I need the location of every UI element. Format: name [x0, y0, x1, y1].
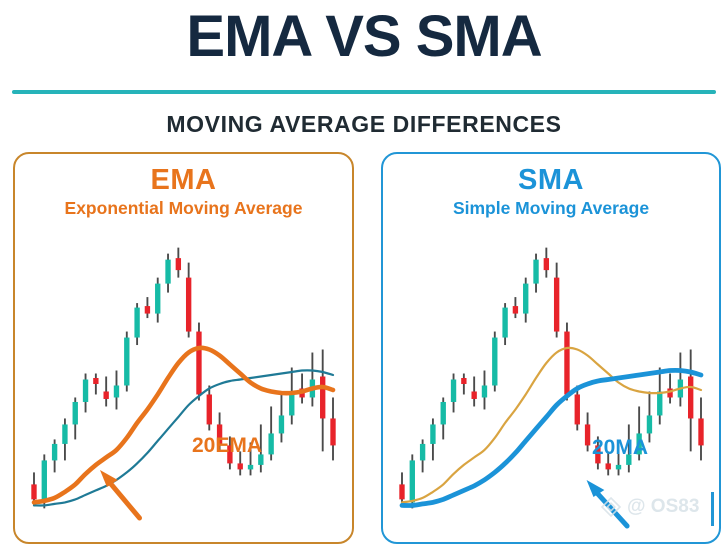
candle-body-down: [606, 463, 611, 469]
candle-body-down: [207, 394, 212, 424]
candle-body-down: [544, 258, 549, 270]
chart-sma: [383, 226, 719, 544]
candle-body-down: [186, 278, 191, 332]
candle-body-up: [83, 379, 88, 401]
candle-body-up: [268, 433, 273, 454]
candle-body-up: [533, 260, 538, 284]
candle-body-up: [248, 465, 253, 469]
panel-ema-fullname: Exponential Moving Average: [15, 197, 352, 219]
panel-sma-abbr: SMA: [383, 164, 719, 196]
panel-sma-header: SMA Simple Moving Average: [383, 164, 719, 219]
chart-sma-svg: [383, 226, 719, 544]
candle-body-up: [492, 338, 497, 386]
candle-body-up: [52, 444, 57, 460]
candle-body-up: [73, 402, 78, 424]
ma-line-primary-sma: [402, 370, 701, 505]
candle-body-up: [279, 415, 284, 433]
candle-body-down: [93, 378, 98, 384]
candle-body-down: [585, 424, 590, 445]
candle-body-down: [513, 306, 518, 313]
page-subtitle: MOVING AVERAGE DIFFERENCES: [0, 110, 728, 138]
annotation-arrow-sma: [587, 480, 628, 526]
annotation-label-20ema: 20EMA: [192, 434, 262, 458]
candle-body-down: [176, 258, 181, 270]
candle-body-down: [564, 332, 569, 395]
candle-body-down: [575, 394, 580, 424]
panel-sma: SMA Simple Moving Average: [381, 152, 721, 544]
watermark-bar: [711, 492, 714, 526]
candle-body-up: [124, 338, 129, 386]
candle-body-down: [196, 332, 201, 395]
panel-ema-abbr: EMA: [15, 164, 352, 196]
annotation-label-20ma: 20MA: [592, 436, 648, 460]
chart-ema: [15, 226, 352, 544]
candle-body-up: [657, 391, 662, 415]
candle-body-up: [410, 460, 415, 502]
candle-body-up: [134, 308, 139, 338]
candle-body-down: [667, 388, 672, 397]
candle-body-up: [114, 385, 119, 397]
ma-line-secondary-ema: [34, 370, 333, 505]
infographic-root: EMA VS SMA MOVING AVERAGE DIFFERENCES EM…: [0, 0, 728, 532]
candle-body-up: [62, 424, 67, 443]
candlestick-series-ema: [31, 248, 335, 509]
panel-sma-fullname: Simple Moving Average: [383, 197, 719, 219]
candle-body-down: [554, 278, 559, 332]
candle-body-up: [616, 465, 621, 469]
panel-ema: EMA Exponential Moving Average: [13, 152, 354, 544]
chart-ema-svg: [15, 226, 352, 544]
ma-line-primary-ema: [34, 348, 333, 503]
title-divider: [12, 90, 716, 94]
candle-body-down: [688, 377, 693, 419]
candle-body-down: [31, 484, 36, 499]
candle-body-up: [155, 284, 160, 314]
candle-body-down: [330, 418, 335, 445]
candle-body-down: [471, 391, 476, 398]
candle-body-down: [103, 391, 108, 398]
candle-body-down: [399, 484, 404, 499]
candle-body-up: [165, 260, 170, 284]
candle-body-up: [42, 460, 47, 502]
candle-body-down: [461, 378, 466, 384]
candle-body-up: [647, 415, 652, 433]
candle-body-up: [441, 402, 446, 424]
candlestick-series-sma: [399, 248, 703, 509]
candle-body-up: [502, 308, 507, 338]
page-title: EMA VS SMA: [0, 6, 728, 68]
candle-body-up: [451, 379, 456, 401]
candle-body-down: [320, 377, 325, 419]
candle-body-up: [420, 444, 425, 460]
candle-body-up: [523, 284, 528, 314]
panel-ema-header: EMA Exponential Moving Average: [15, 164, 352, 219]
candle-body-down: [698, 418, 703, 445]
candle-body-down: [145, 306, 150, 313]
candle-body-up: [430, 424, 435, 443]
candle-body-down: [238, 463, 243, 469]
candle-body-up: [482, 385, 487, 397]
